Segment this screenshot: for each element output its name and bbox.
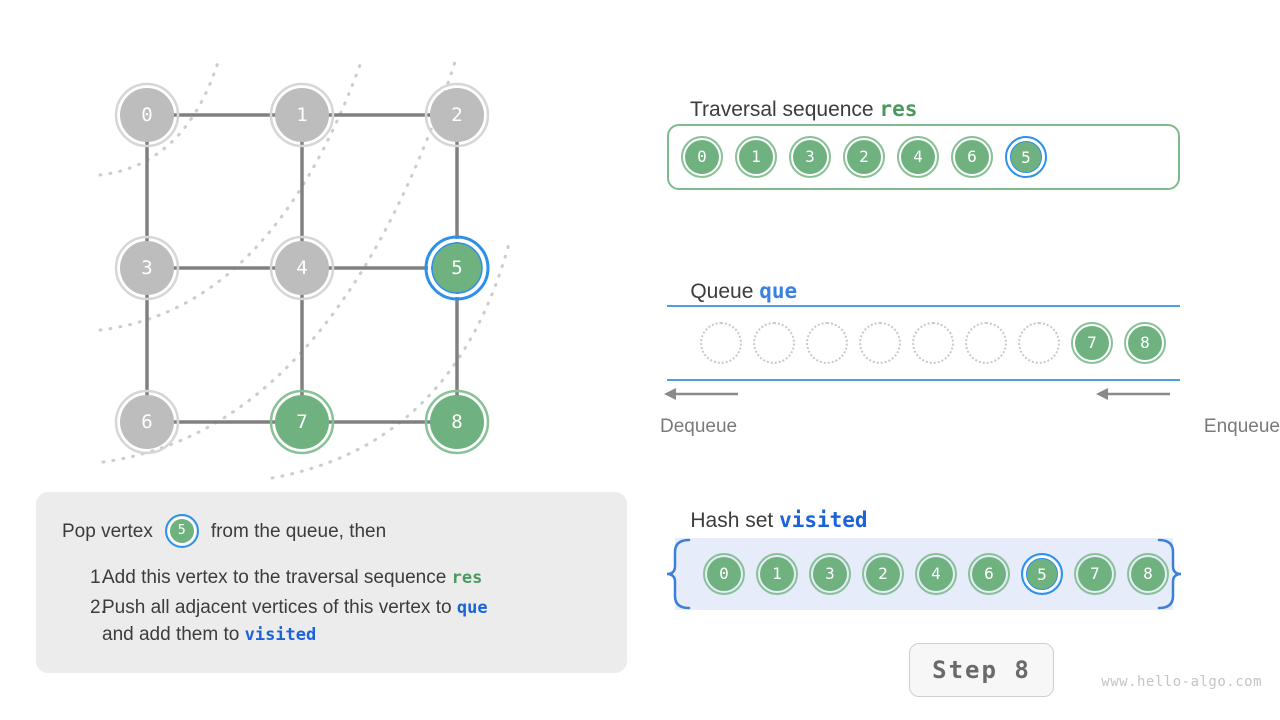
- graph-node-7-label: 7: [296, 411, 307, 433]
- graph-node-8-label: 8: [451, 411, 462, 433]
- queue-container: 7 8: [667, 305, 1180, 381]
- visited-item-6-current[interactable]: 5: [1021, 553, 1063, 595]
- graph-node-8[interactable]: 8: [426, 391, 488, 453]
- res-container: 0 1 3 2 4 6 5: [667, 124, 1180, 190]
- res-item-0[interactable]: 0: [681, 136, 723, 178]
- graph-nodes: 0 1 2 3 4: [116, 84, 488, 453]
- graph-node-4[interactable]: 4: [271, 237, 333, 299]
- visited-item-3[interactable]: 2: [862, 553, 904, 595]
- visited-item-8[interactable]: 8: [1127, 553, 1169, 595]
- graph-node-1-label: 1: [296, 104, 307, 126]
- graph-node-6-label: 6: [141, 411, 152, 433]
- queue-empty-slot-ring: [1018, 322, 1060, 364]
- caption-line-1: Pop vertex 5 from the queue, then: [62, 514, 601, 548]
- res-item-2[interactable]: 3: [789, 136, 831, 178]
- graph-node-0[interactable]: 0: [116, 84, 178, 146]
- visited-item-3-label: 2: [866, 557, 900, 591]
- graph-node-2-label: 2: [451, 104, 462, 126]
- caption-vertex-chip: 5: [165, 514, 199, 548]
- visited-item-4-label: 4: [919, 557, 953, 591]
- queue-empty-slot-ring: [753, 322, 795, 364]
- graph-node-5[interactable]: 5: [426, 237, 488, 299]
- caption-step-2-text2: and add them to: [102, 624, 245, 645]
- graph-diagram: 0 1 2 3 4: [0, 0, 640, 490]
- queue-empty-slot: [753, 322, 795, 364]
- watermark: www.hello-algo.com: [1101, 674, 1262, 690]
- res-item-5[interactable]: 6: [951, 136, 993, 178]
- res-title-text: Traversal sequence: [690, 98, 874, 121]
- visited-item-0[interactable]: 0: [703, 553, 745, 595]
- visited-item-7-label: 7: [1078, 557, 1112, 591]
- caption-box: Pop vertex 5 from the queue, then Add th…: [36, 492, 627, 673]
- queue-item-1[interactable]: 8: [1124, 322, 1166, 364]
- visited-item-1-label: 1: [760, 557, 794, 591]
- caption-prefix: Pop vertex: [62, 522, 153, 541]
- queue-item-0[interactable]: 7: [1071, 322, 1113, 364]
- enqueue-label: Enqueue: [1204, 416, 1280, 438]
- graph-node-7[interactable]: 7: [271, 391, 333, 453]
- visited-item-4[interactable]: 4: [915, 553, 957, 595]
- visited-item-0-label: 0: [707, 557, 741, 591]
- res-item-6-label: 5: [1010, 141, 1042, 173]
- visited-item-5-label: 6: [972, 557, 1006, 591]
- caption-step-1-code: res: [452, 568, 483, 588]
- queue-empty-slot-ring: [806, 322, 848, 364]
- queue-empty-slot-ring: [700, 322, 742, 364]
- graph-node-3[interactable]: 3: [116, 237, 178, 299]
- enqueue-arrow-head: [1096, 388, 1108, 400]
- res-item-0-label: 0: [685, 140, 719, 174]
- visited-item-2[interactable]: 3: [809, 553, 851, 595]
- res-item-3-label: 2: [847, 140, 881, 174]
- caption-step-2-code: que: [457, 598, 488, 618]
- res-title-code: res: [879, 97, 917, 121]
- queue-empty-slot-ring: [912, 322, 954, 364]
- queue-title-code: que: [759, 279, 797, 303]
- queue-slots: 7 8: [667, 305, 1180, 381]
- caption-step-2: Push all adjacent vertices of this verte…: [62, 594, 601, 649]
- res-item-3[interactable]: 2: [843, 136, 885, 178]
- visited-item-1[interactable]: 1: [756, 553, 798, 595]
- visited-item-7[interactable]: 7: [1074, 553, 1116, 595]
- graph-node-3-label: 3: [141, 257, 152, 279]
- caption-steps-list: Add this vertex to the traversal sequenc…: [62, 564, 601, 649]
- visited-item-6-label: 5: [1026, 558, 1058, 590]
- res-item-2-label: 3: [793, 140, 827, 174]
- visited-item-2-label: 3: [813, 557, 847, 591]
- visited-title-code: visited: [779, 508, 868, 532]
- res-item-5-label: 6: [955, 140, 989, 174]
- res-item-6-current[interactable]: 5: [1005, 136, 1047, 178]
- queue-direction-arrows: [660, 384, 1180, 404]
- queue-empty-slot: [1018, 322, 1060, 364]
- res-item-1-label: 1: [739, 140, 773, 174]
- graph-node-5-label: 5: [451, 257, 462, 279]
- caption-vertex-label: 5: [170, 519, 194, 543]
- queue-empty-slot: [965, 322, 1007, 364]
- graph-node-1[interactable]: 1: [271, 84, 333, 146]
- visited-item-8-label: 8: [1131, 557, 1165, 591]
- graph-node-6[interactable]: 6: [116, 391, 178, 453]
- queue-title-text: Queue: [690, 280, 753, 303]
- graph-panel: 0 1 2 3 4: [0, 0, 640, 490]
- visited-title-text: Hash set: [690, 509, 773, 532]
- dequeue-arrow-head: [664, 388, 676, 400]
- graph-node-0-label: 0: [141, 104, 152, 126]
- queue-empty-slot: [912, 322, 954, 364]
- step-badge: Step 8: [909, 643, 1054, 697]
- queue-item-0-label: 7: [1075, 326, 1109, 360]
- queue-empty-slot-ring: [965, 322, 1007, 364]
- visited-item-5[interactable]: 6: [968, 553, 1010, 595]
- queue-item-1-label: 8: [1128, 326, 1162, 360]
- graph-node-2[interactable]: 2: [426, 84, 488, 146]
- caption-step-1: Add this vertex to the traversal sequenc…: [62, 564, 601, 592]
- queue-empty-slot: [806, 322, 848, 364]
- visited-items: 0 1 3 2 4 6: [675, 538, 1173, 610]
- right-panel: Traversal sequence res 0 1 3 2 4 6: [660, 0, 1280, 720]
- visited-container: 0 1 3 2 4 6: [665, 538, 1183, 610]
- dequeue-label: Dequeue: [660, 416, 737, 438]
- caption-step-2-text: Push all adjacent vertices of this verte…: [102, 597, 457, 618]
- caption-step-2-code2: visited: [245, 625, 317, 645]
- res-item-4-label: 4: [901, 140, 935, 174]
- res-item-4[interactable]: 4: [897, 136, 939, 178]
- graph-node-4-label: 4: [296, 257, 307, 279]
- res-item-1[interactable]: 1: [735, 136, 777, 178]
- queue-empty-slot: [700, 322, 742, 364]
- queue-empty-slot-ring: [859, 322, 901, 364]
- caption-step-1-text: Add this vertex to the traversal sequenc…: [102, 567, 452, 588]
- caption-suffix: from the queue, then: [211, 522, 386, 541]
- queue-empty-slot: [859, 322, 901, 364]
